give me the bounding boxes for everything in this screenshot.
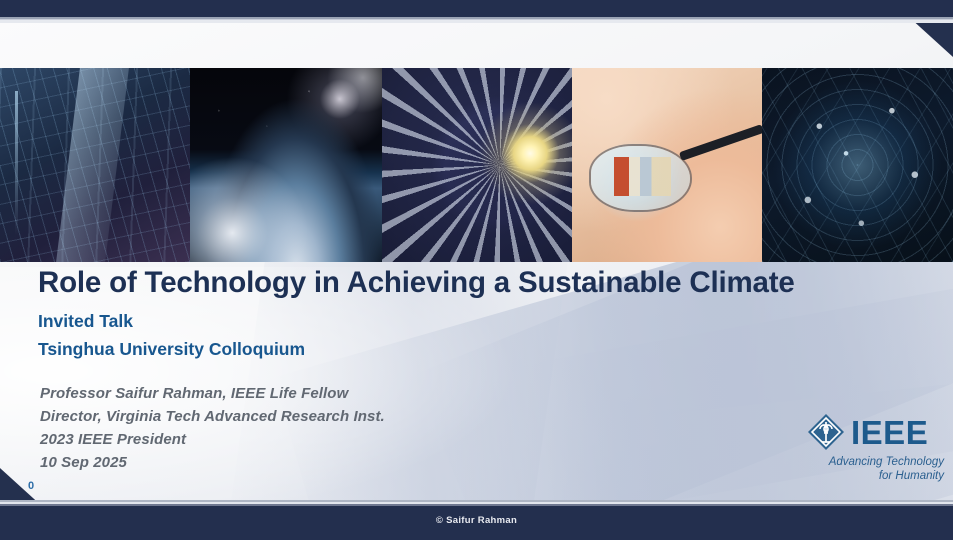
earth-from-space-photo xyxy=(190,68,382,262)
subtitle-venue: Tsinghua University Colloquium xyxy=(38,336,943,363)
subtitle-invited-talk: Invited Talk xyxy=(38,308,943,335)
jet-engine-photo xyxy=(382,68,572,262)
digital-grid-photo xyxy=(0,68,190,262)
eyeglass-arm xyxy=(679,124,762,161)
presentation-date: 10 Sep 2025 xyxy=(40,452,560,475)
ieee-logo: IEEE Advancing Technology for Humanity xyxy=(806,412,946,484)
banner-photo-strip xyxy=(0,68,953,262)
speaker-presidency-line: 2023 IEEE President xyxy=(40,429,560,452)
ieee-tagline-line-1: Advancing Technology xyxy=(806,455,946,469)
smart-glasses-photo xyxy=(572,68,762,262)
network-globe-photo xyxy=(762,68,953,262)
top-navy-band xyxy=(0,0,953,17)
speaker-block: Professor Saifur Rahman, IEEE Life Fello… xyxy=(40,383,560,475)
page-title: Role of Technology in Achieving a Sustai… xyxy=(38,268,943,299)
presentation-slide: Role of Technology in Achieving a Sustai… xyxy=(0,0,953,540)
ieee-wordmark: IEEE xyxy=(851,416,928,449)
lens-hud-reflection xyxy=(614,157,671,196)
speaker-name-line: Professor Saifur Rahman, IEEE Life Fello… xyxy=(40,383,560,406)
slide-number: 0 xyxy=(28,480,34,492)
footer-copyright: © Saifur Rahman xyxy=(0,515,953,526)
speaker-role-line: Director, Virginia Tech Advanced Researc… xyxy=(40,406,560,429)
title-block: Role of Technology in Achieving a Sustai… xyxy=(38,268,943,362)
top-rule-light xyxy=(0,20,953,23)
ieee-diamond-icon xyxy=(806,412,846,452)
ieee-tagline-line-2: for Humanity xyxy=(806,469,946,483)
